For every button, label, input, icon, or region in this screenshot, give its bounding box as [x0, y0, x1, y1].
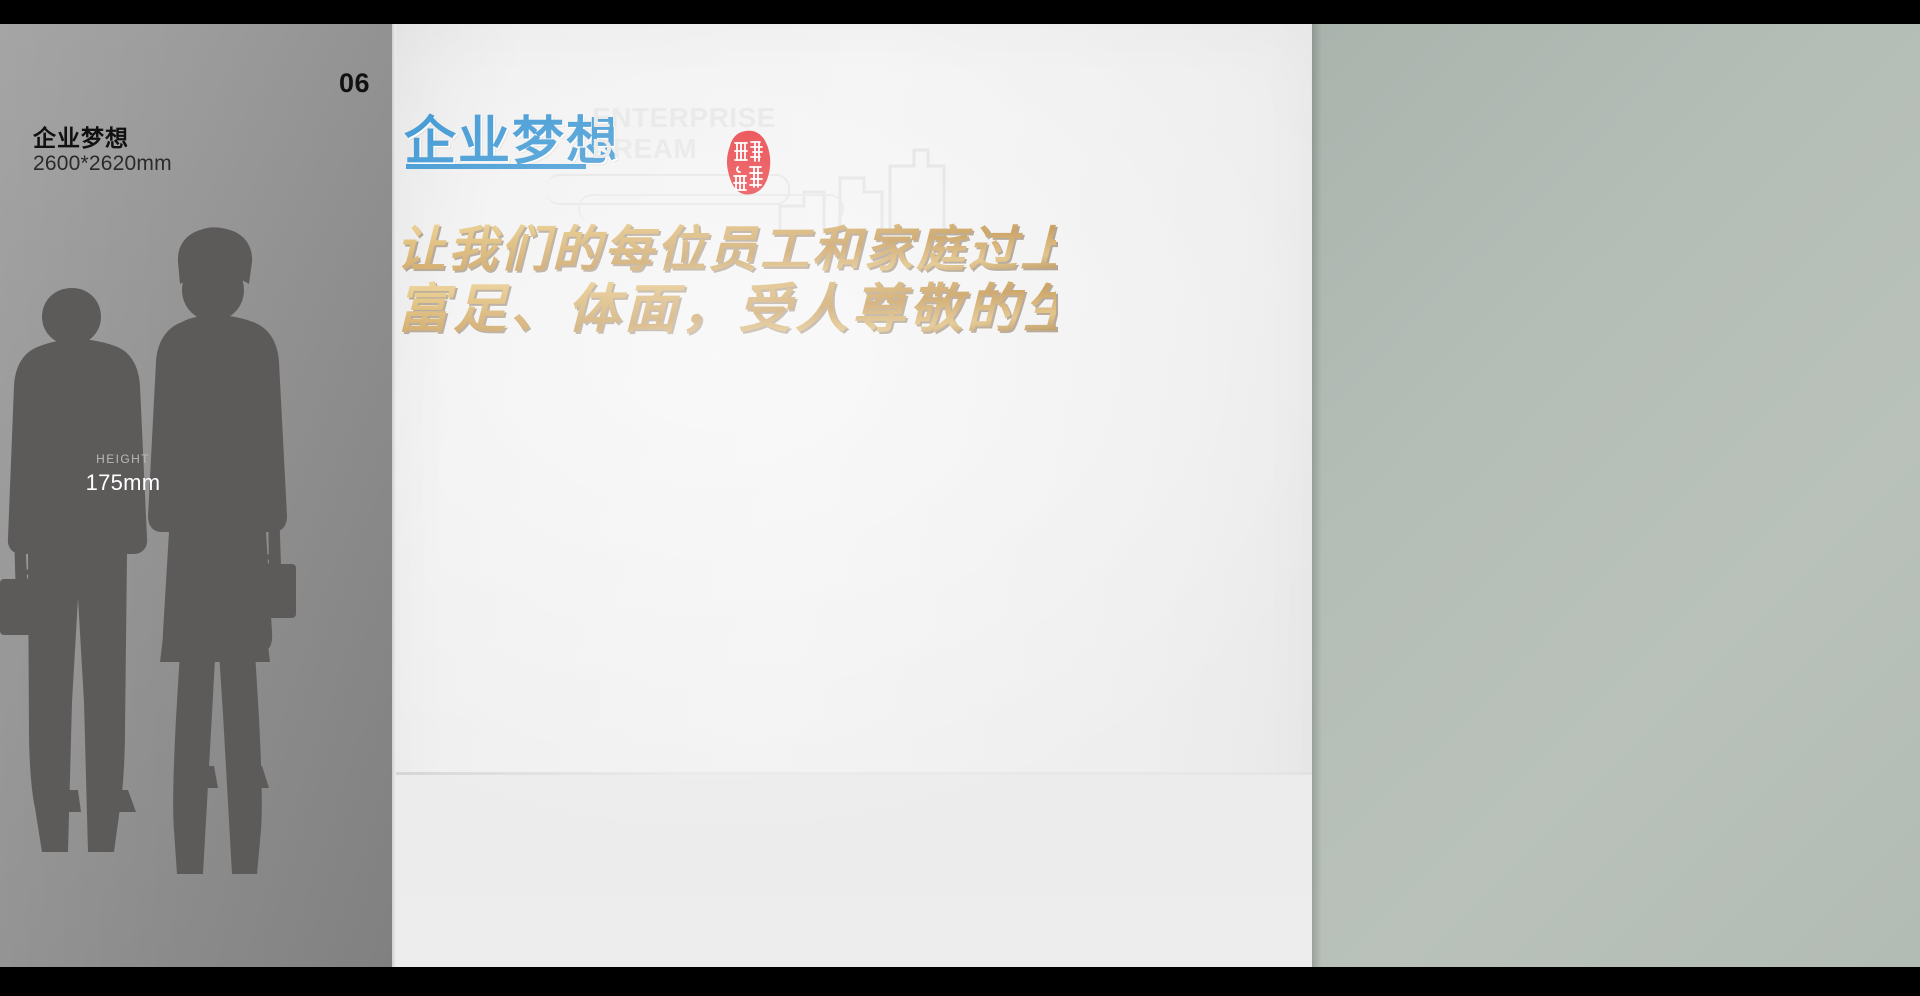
- decor-pill-lower: [578, 194, 844, 223]
- page-number: 06: [339, 68, 370, 99]
- letterbox-bar-bottom: [0, 967, 1920, 996]
- item-dimensions: 2600*2620mm: [33, 152, 172, 176]
- left-wall-panel: 06 企业梦想 2600*2620mm HEIGHT 175mm: [0, 24, 396, 967]
- height-value: 175mm: [53, 470, 193, 496]
- letterbox-bar-top: [0, 0, 1920, 24]
- right-wall-panel: [1312, 24, 1920, 967]
- logo-chinese-title: 企业梦想: [404, 99, 620, 174]
- height-label: HEIGHT: [63, 452, 183, 466]
- right-wall-corner-shadow: [1312, 24, 1322, 967]
- slogan-block: 让我们的每位员工和家庭过上 富足、体面，受人尊敬的生活!: [396, 220, 1056, 340]
- slogan-line-1: 让我们的每位员工和家庭过上: [396, 220, 1056, 280]
- scene-render: 06 企业梦想 2600*2620mm HEIGHT 175mm 企业梦想: [0, 24, 1920, 967]
- wall-graphic: 企业梦想 ENTERPRISE DREAM 让我们的每位员工: [396, 24, 1316, 967]
- item-title: 企业梦想: [33, 119, 129, 153]
- logo-underline-rule: [406, 164, 586, 169]
- presentation-slide: 06 企业梦想 2600*2620mm HEIGHT 175mm 企业梦想: [0, 0, 1920, 996]
- slogan-line-2: 富足、体面，受人尊敬的生活!: [396, 280, 1056, 340]
- red-seal-stamp-icon: [724, 130, 774, 196]
